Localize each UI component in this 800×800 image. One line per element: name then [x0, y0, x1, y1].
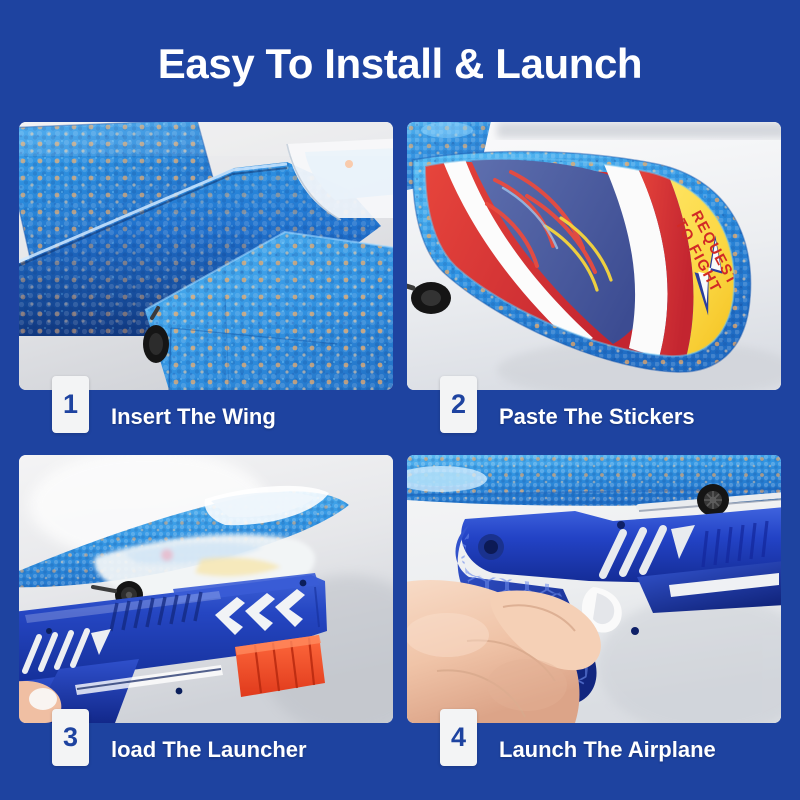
step-number-badge-1: 1: [52, 376, 89, 433]
step-card-1[interactable]: 1 Insert The Wing: [19, 122, 393, 390]
step-card-4[interactable]: 4 Launch The Airplane: [407, 455, 781, 723]
photo-paste-the-stickers: REQUEST TO FIGHT: [407, 122, 781, 390]
caption-row-4: 4 Launch The Airplane: [407, 723, 781, 795]
caption-row-2: 2 Paste The Stickers: [407, 390, 781, 462]
step-number-badge-2: 2: [440, 376, 477, 433]
caption-row-3: 3 load The Launcher: [19, 723, 393, 795]
photo-insert-the-wing: [19, 122, 393, 390]
step-label-3: load The Launcher: [111, 737, 307, 763]
step-card-2[interactable]: REQUEST TO FIGHT 2 Paste The: [407, 122, 781, 390]
step-label-2: Paste The Stickers: [499, 404, 695, 430]
caption-row-1: 1 Insert The Wing: [19, 390, 393, 462]
page-title: Easy To Install & Launch: [0, 39, 800, 89]
steps-grid: 1 Insert The Wing: [19, 122, 781, 770]
step-number-badge-4: 4: [440, 709, 477, 766]
step-card-3[interactable]: 3 load The Launcher: [19, 455, 393, 723]
step-label-1: Insert The Wing: [111, 404, 276, 430]
step-number-badge-3: 3: [52, 709, 89, 766]
step-label-4: Launch The Airplane: [499, 737, 716, 763]
photo-load-the-launcher: [19, 455, 393, 723]
photo-launch-the-airplane: [407, 455, 781, 723]
